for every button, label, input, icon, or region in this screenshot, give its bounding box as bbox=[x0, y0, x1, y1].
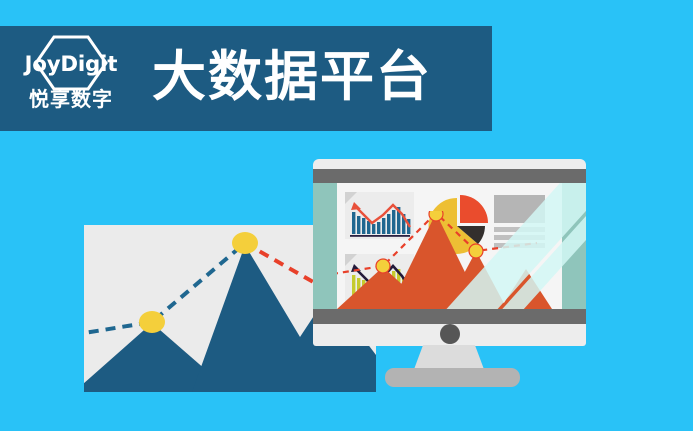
monitor-screen bbox=[313, 183, 586, 309]
trend-node bbox=[232, 232, 258, 254]
monitor-bezel-top bbox=[313, 169, 586, 183]
screen-side-strip-left bbox=[313, 183, 337, 309]
webcam-dot bbox=[440, 324, 460, 344]
page-title: 大数据平台 bbox=[152, 50, 432, 108]
logo-chinese-text: 悦享数字 bbox=[29, 89, 113, 109]
chart-node bbox=[469, 244, 483, 258]
header-banner: JoyDigit 悦享数字 大数据平台 bbox=[0, 26, 492, 131]
monitor-base bbox=[385, 368, 520, 387]
logo-english-text: JoyDigit bbox=[25, 54, 118, 75]
monitor-bezel-bottom bbox=[313, 309, 586, 324]
chart-node bbox=[376, 259, 390, 273]
desktop-monitor bbox=[313, 159, 586, 346]
chart-node bbox=[429, 211, 443, 221]
trend-node bbox=[139, 311, 165, 333]
brand-logo: JoyDigit 悦享数字 bbox=[12, 33, 130, 125]
illustration-canvas: JoyDigit 悦享数字 大数据平台 bbox=[0, 0, 693, 431]
arrow-up-left-icon bbox=[351, 202, 361, 210]
